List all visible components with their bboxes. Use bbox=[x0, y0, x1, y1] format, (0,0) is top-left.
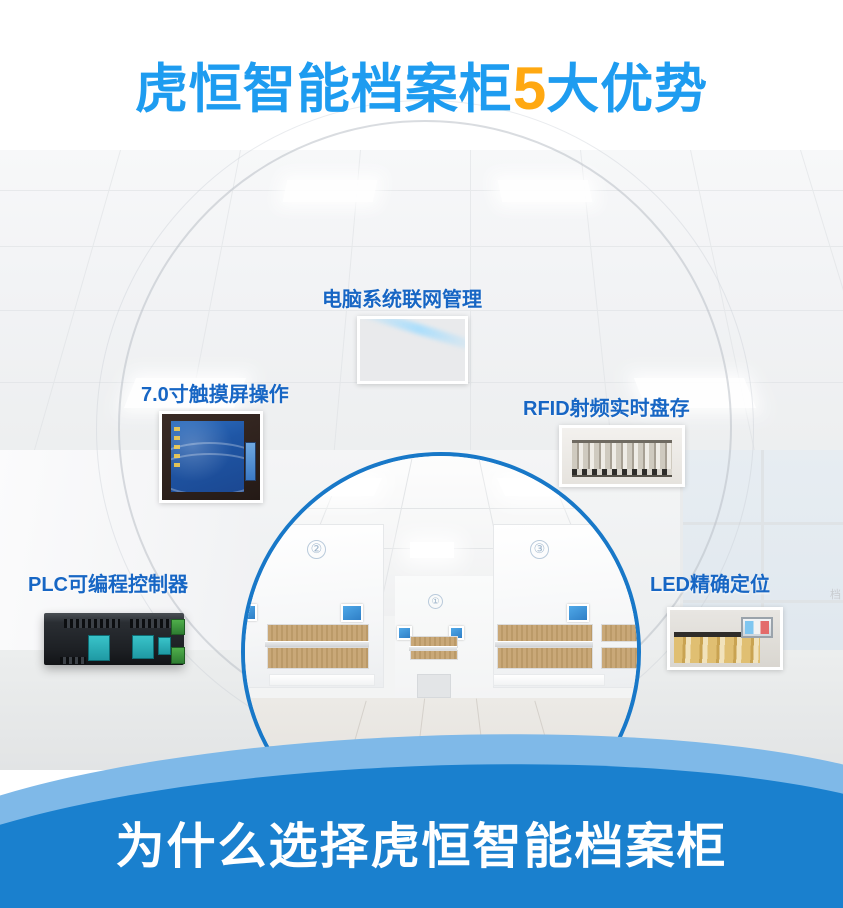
cabinet-number-1: ① bbox=[428, 594, 443, 609]
keyboard-photo bbox=[357, 316, 468, 384]
cabinet-number-3: ③ bbox=[530, 540, 549, 559]
touch-panel-photo bbox=[159, 411, 263, 503]
title-prefix: 虎恒智能档案柜 bbox=[135, 63, 513, 116]
touch-side-buttons bbox=[245, 442, 256, 482]
desktop-icons bbox=[174, 427, 180, 468]
feature-label-computer: 电脑系统联网管理 bbox=[322, 283, 482, 312]
cabinet-files bbox=[497, 647, 593, 669]
page-title: 虎恒智能档案柜5大优势 bbox=[0, 54, 843, 123]
plc-label bbox=[158, 637, 171, 655]
plc-terminal bbox=[171, 647, 185, 664]
feature-label-plc: PLC可编程控制器 bbox=[28, 568, 188, 597]
plc-label bbox=[132, 635, 154, 659]
footer-banner: 为什么选择虎恒智能档案柜 bbox=[0, 690, 843, 908]
feature-label-led: LED精确定位 bbox=[650, 568, 770, 597]
cabinet-touchscreen bbox=[341, 604, 363, 622]
cabinet-files bbox=[601, 624, 637, 642]
cabinet-touchscreen bbox=[245, 604, 257, 621]
cabinet-files bbox=[601, 647, 637, 669]
title-number: 5 bbox=[513, 55, 546, 122]
plc-module-photo bbox=[38, 605, 188, 673]
cabinet-number-2: ② bbox=[307, 540, 326, 559]
cabinet-files bbox=[267, 624, 369, 642]
edge-watermark: 档 bbox=[830, 586, 841, 602]
feature-label-touchscreen: 7.0寸触摸屏操作 bbox=[141, 378, 289, 407]
touch-bezel bbox=[162, 414, 260, 500]
photo-ceiling-light bbox=[410, 542, 454, 558]
cabinet-files bbox=[497, 624, 593, 642]
title-suffix: 大优势 bbox=[546, 63, 708, 116]
led-shelf-photo bbox=[667, 607, 783, 670]
rfid-rack-photo bbox=[559, 425, 685, 487]
cabinet-files bbox=[410, 650, 458, 660]
footer-banner-text: 为什么选择虎恒智能档案柜 bbox=[0, 823, 843, 872]
led-display-panel bbox=[741, 617, 774, 638]
promo-page: 虎恒智能档案柜5大优势 ② bbox=[0, 0, 843, 908]
cabinet-desk bbox=[269, 674, 375, 686]
plc-label bbox=[88, 635, 110, 661]
cabinet-desk bbox=[493, 674, 605, 686]
cabinet-files bbox=[267, 647, 369, 669]
touch-screen bbox=[171, 421, 244, 492]
feature-label-rfid: RFID射频实时盘存 bbox=[523, 392, 690, 421]
photo-ceiling-light bbox=[296, 478, 383, 496]
cabinet-touchscreen bbox=[567, 604, 589, 622]
plc-terminal bbox=[171, 619, 185, 635]
